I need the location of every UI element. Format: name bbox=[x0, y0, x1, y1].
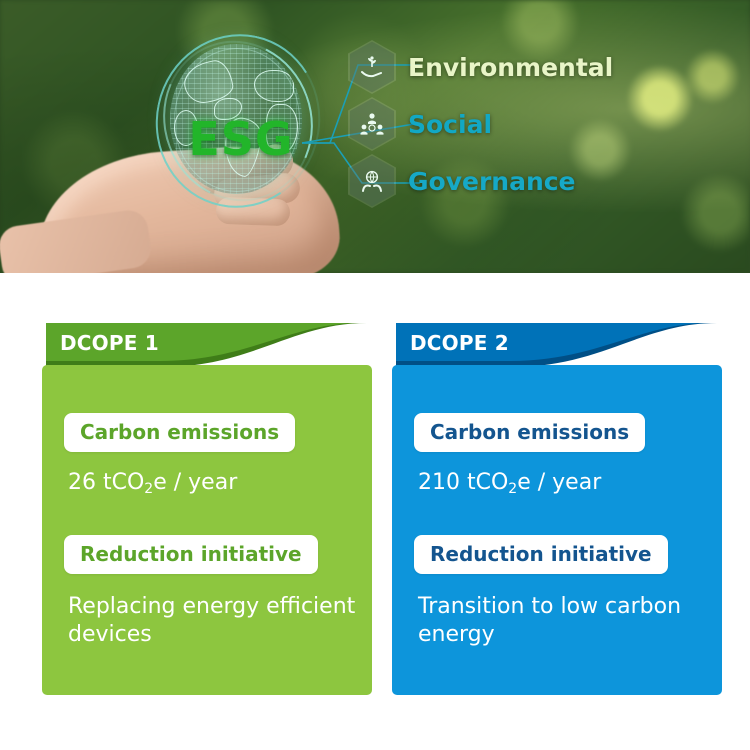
pillar-label-governance: Governance bbox=[408, 167, 576, 196]
initiative-description: Replacing energy efficient devices bbox=[68, 593, 358, 649]
card-tab-label: DCOPE 2 bbox=[410, 331, 509, 355]
card-body-dcope-2: Carbon emissions 210 tCO2e / year Reduct… bbox=[392, 365, 722, 695]
emissions-value-subscript: 2 bbox=[144, 481, 153, 497]
emissions-label-pill: Carbon emissions bbox=[64, 413, 295, 452]
emissions-value-suffix: e / year bbox=[153, 470, 237, 495]
cards-section: DCOPE 1 Carbon emissions 26 tCO2e / year… bbox=[0, 273, 750, 750]
emissions-value: 26 tCO2e / year bbox=[68, 470, 237, 495]
emissions-value-subscript: 2 bbox=[508, 481, 517, 497]
initiative-label-pill: Reduction initiative bbox=[414, 535, 668, 574]
esg-acronym-label: ESG bbox=[186, 112, 296, 166]
initiative-label-pill: Reduction initiative bbox=[64, 535, 318, 574]
pillar-label-social: Social bbox=[408, 110, 492, 139]
card-tab-dcope-1: DCOPE 1 bbox=[42, 323, 372, 365]
emissions-value-prefix: 26 tCO bbox=[68, 470, 144, 495]
hand-plant-icon bbox=[348, 40, 396, 94]
card-tab-dcope-2: DCOPE 2 bbox=[392, 323, 722, 365]
card-dcope-2[interactable]: DCOPE 2 Carbon emissions 210 tCO2e / yea… bbox=[392, 323, 722, 695]
hero-banner: ESG Environmental bbox=[0, 0, 750, 273]
card-dcope-1[interactable]: DCOPE 1 Carbon emissions 26 tCO2e / year… bbox=[42, 323, 372, 695]
card-body-dcope-1: Carbon emissions 26 tCO2e / year Reducti… bbox=[42, 365, 372, 695]
pillar-label-environmental: Environmental bbox=[408, 53, 613, 82]
esg-globe: ESG bbox=[156, 34, 316, 204]
emissions-value-prefix: 210 tCO bbox=[418, 470, 508, 495]
pillar-governance[interactable]: Governance bbox=[348, 154, 576, 208]
emissions-label-pill: Carbon emissions bbox=[414, 413, 645, 452]
pillar-social[interactable]: Social bbox=[348, 97, 492, 151]
emissions-value-suffix: e / year bbox=[517, 470, 601, 495]
card-tab-label: DCOPE 1 bbox=[60, 331, 159, 355]
emissions-value: 210 tCO2e / year bbox=[418, 470, 601, 495]
initiative-description: Transition to low carbon energy bbox=[418, 593, 708, 649]
pillar-environmental[interactable]: Environmental bbox=[348, 40, 613, 94]
people-group-icon bbox=[348, 97, 396, 151]
hands-globe-icon bbox=[348, 154, 396, 208]
